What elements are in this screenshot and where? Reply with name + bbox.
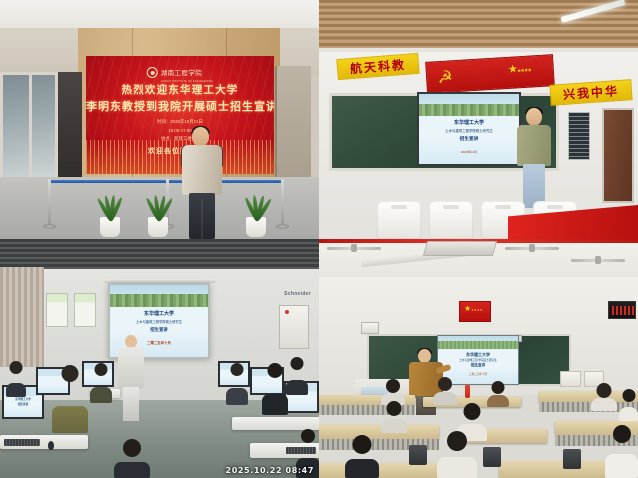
chair [429,201,473,239]
desk-row [319,463,447,478]
student-body [345,459,379,478]
student-body [286,380,308,395]
equipment-brand-label: Schneider [284,291,311,297]
school-logo-cn: 湖南工程学院 [161,70,202,77]
student-head [291,357,304,370]
person-trousers [189,193,215,239]
chair [377,201,421,239]
glass-door-left [0,72,58,182]
photo-collage: 湖南工程学院 HUNAN INSTITUTE OF ENGINEERING 热烈… [0,0,638,478]
student-head [10,361,23,374]
person-jacket [182,145,222,195]
student-head [231,363,244,376]
student-head [62,365,79,382]
ceiling-fan [505,247,559,250]
photo-panel-classroom-banners[interactable]: 航天科教 ☭ ★★★★★ 兴我中华 东华理工大学 土木与建筑工程学院硕士研究生 … [319,0,638,239]
student-head [353,435,372,454]
student [90,363,112,403]
window-curtain [0,267,44,367]
slide-subtitle: 土木与建筑工程学院硕士研究生 [438,358,518,362]
slide-subtitle: 土木与建筑工程学院硕士研究生 [110,319,208,324]
potted-plant [92,179,128,237]
person-shirt [517,125,551,166]
banner-headline-line2: 李明东教授到我院开展硕士招生宣讲 [86,98,274,114]
classroom-door [602,108,634,203]
student-body [90,387,112,403]
student-head [613,425,631,443]
student [437,431,477,478]
student [487,381,509,407]
student-body [605,454,638,478]
water-bottle [465,385,470,398]
student-head [438,377,452,391]
slide-title: 东华理工大学 [110,310,208,317]
led-display [608,301,636,319]
slide-heading: 招生宣讲 [110,327,208,333]
chair-back [563,449,581,469]
stanchion-post [48,179,51,225]
student-body [114,462,150,478]
slide-heading: 招生宣讲 [419,136,519,142]
person-head [192,127,209,146]
potted-plant [140,179,176,237]
stanchion-post [281,179,284,225]
flag-stars-icon: ★★★★★ [508,62,532,76]
student [114,439,150,478]
projector-screen: 东华理工大学 土木与建筑工程学院硕士研究生 招生宣讲 2025年10月 [417,92,521,166]
person-trousers [123,387,139,421]
student [262,363,288,415]
student-body [591,398,617,411]
student [591,383,617,411]
student-head [622,389,635,402]
student [6,361,26,397]
ceiling-fan [327,247,381,250]
party-emblem-icon: ☭ [435,67,456,88]
ceiling [0,0,319,30]
student-body [433,392,457,405]
wall-sign [560,371,581,387]
student-body [226,388,248,405]
dark-cabinet [58,72,82,190]
air-conditioner-unit [423,241,497,256]
student-body [6,383,26,397]
school-logo: 湖南工程学院 HUNAN INSTITUTE OF ENGINEERING [147,62,214,83]
slide-date: 二零二五年十月 [438,372,518,376]
school-logo-mark [147,67,158,78]
person-presenter [180,127,224,239]
student-head [268,363,283,378]
wall-poster [46,293,68,327]
slide-tree-graphic [438,341,518,349]
student [605,425,638,478]
slide-title: 东华理工大学 [419,119,519,126]
student-body [619,407,638,421]
student [286,357,308,395]
chair-back [409,445,427,465]
student-head [386,379,400,393]
slide-subtitle: 土木与建筑工程学院硕士研究生 [419,128,519,133]
student [345,435,379,478]
electrical-panel [279,305,309,349]
potted-plant [238,179,274,237]
student-body [262,394,288,415]
student-body [52,406,88,433]
student-body [381,419,407,433]
monitor-slide-text: 东华理工大学招生宣讲 [4,398,42,407]
photo-panel-computer-lab[interactable]: Schneider 东华理工大学 土木与建筑工程学院硕士研究生 招生宣讲 二零二… [0,239,319,478]
photo-panel-lecture-hall[interactable]: ★★★★★ 东华理工大学 土木与建筑工程学院硕士研究生 招生宣讲 二零二五年十月 [319,239,638,478]
student-body [487,395,509,407]
flag-stars-icon: ★★★★★ [464,305,483,314]
ceiling-grille [0,239,319,273]
student [619,389,638,421]
student-head [123,439,141,457]
student-head [492,381,505,394]
wall-poster [74,293,96,327]
person-presenter [515,108,553,208]
slide-tree-graphic [419,104,519,117]
slide-date: 2025年10月 [419,150,519,154]
student-head [597,383,612,398]
photo-timestamp: 2025.10.22 08:47 [226,466,314,475]
student-head [95,363,108,376]
desk-row [319,425,439,439]
person-head [418,349,431,363]
student-head [387,401,402,416]
student-body [437,457,477,478]
person-head [526,108,542,126]
student [433,377,457,405]
student [381,401,407,433]
student-head [464,403,481,420]
ceiling-fan [571,259,625,262]
person-presenter [118,335,144,421]
wall-grille [568,112,590,160]
student-head [447,431,467,451]
banner-headline-line1: 热烈欢迎东华理工大学 [86,82,274,97]
chair-back [483,447,501,467]
mouse [48,441,54,450]
slide-tree-graphic [110,294,208,307]
person-jacket [118,347,144,389]
student [52,365,88,433]
photo-panel-lobby-banner[interactable]: 湖南工程学院 HUNAN INSTITUTE OF ENGINEERING 热烈… [0,0,319,239]
student-head [301,429,315,443]
wall-intercom [361,322,379,334]
door-right [275,66,311,192]
student [226,363,248,405]
national-flag: ★★★★★ [459,301,491,322]
keyboard [4,439,40,446]
